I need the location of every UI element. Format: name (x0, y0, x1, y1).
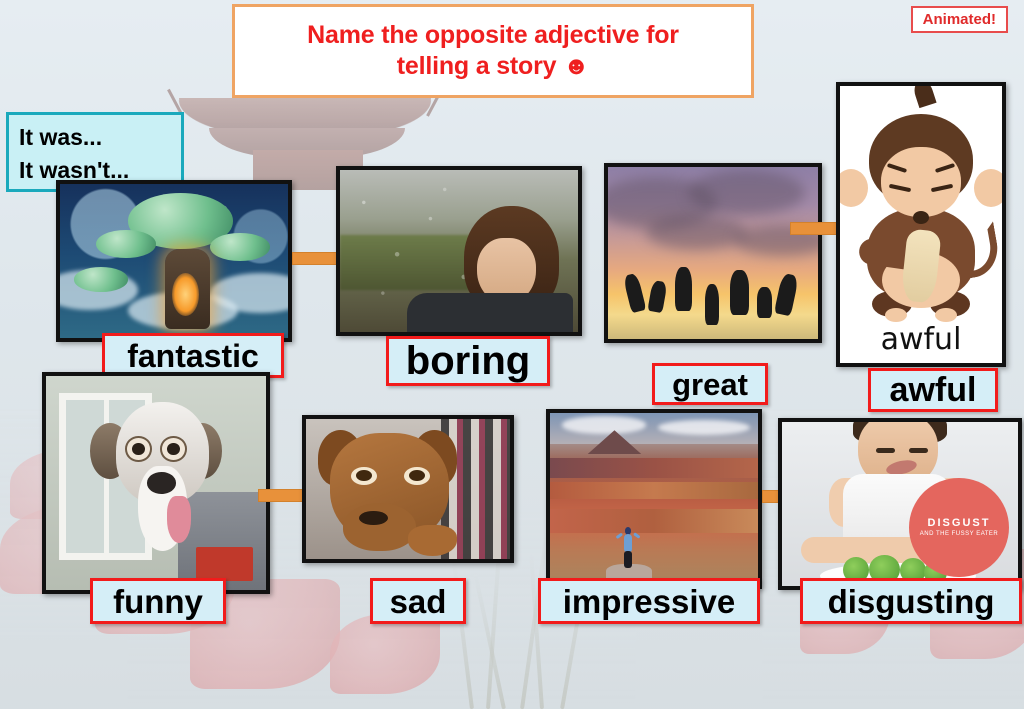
image-fantastic-magical-tree (56, 180, 292, 342)
word-label-great[interactable]: great (652, 363, 768, 405)
word-text: great (672, 369, 748, 400)
animated-badge: Animated! (911, 6, 1008, 33)
hiker-figure (619, 527, 638, 568)
word-label-sad[interactable]: sad (370, 578, 466, 624)
image-funny-dog (42, 372, 270, 594)
slide-title-line1: Name the opposite adjective for (307, 20, 679, 51)
word-label-boring[interactable]: boring (386, 336, 550, 386)
slide-title-line2: telling a story ☻ (307, 51, 679, 82)
image-sad-dog (302, 415, 514, 563)
monkey-card-caption: awful (840, 322, 1002, 357)
word-label-impressive[interactable]: impressive (538, 578, 760, 624)
word-text: awful (890, 373, 977, 407)
disgust-badge-title: DISGUST (928, 517, 991, 529)
image-impressive-rainbow-mountains (546, 409, 762, 589)
image-awful-monkey-card: awful (836, 82, 1006, 367)
word-text: impressive (563, 585, 735, 618)
word-text: disgusting (828, 585, 995, 618)
slide-title-banner: Name the opposite adjective for telling … (232, 4, 754, 98)
word-label-disgusting[interactable]: disgusting (800, 578, 1022, 624)
image-boring-rainy-window (336, 166, 582, 336)
word-text: funny (113, 585, 203, 618)
word-text: sad (390, 585, 447, 618)
word-text: boring (406, 341, 530, 381)
word-label-awful[interactable]: awful (868, 368, 998, 412)
sentence-starter-line1: It was... (19, 121, 171, 154)
image-great-jumping-silhouettes (604, 163, 822, 343)
slide-canvas: Name the opposite adjective for telling … (0, 0, 1024, 709)
disgust-badge: DISGUST AND THE FUSSY EATER (909, 478, 1008, 577)
word-label-funny[interactable]: funny (90, 578, 226, 624)
image-disgusting-boy-broccoli: DISGUST AND THE FUSSY EATER (778, 418, 1022, 590)
disgust-badge-subtitle: AND THE FUSSY EATER (920, 531, 999, 537)
word-text: fantastic (127, 340, 259, 372)
